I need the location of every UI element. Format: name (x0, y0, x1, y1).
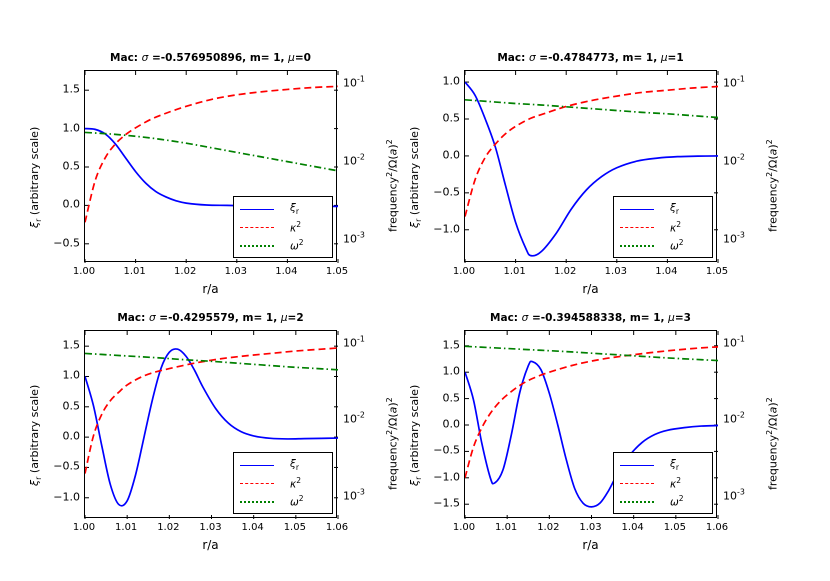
y-axis-label-right: frequency2/Ω(a)2 (765, 397, 780, 490)
x-tick-label: 1.06 (706, 522, 728, 533)
legend-label-xi_r: ξr (670, 458, 679, 472)
right-y-tick-label: 10-2 (723, 411, 745, 426)
legend-label-omega2: ω2 (670, 494, 684, 509)
legend-item-xi_r: ξr (614, 457, 712, 475)
legend-swatch-omega2 (620, 501, 654, 503)
panel-title: Mac: σ =-0.394588338, m= 1, μ=3 (465, 312, 716, 324)
y-tick-label: 1.0 (422, 365, 460, 378)
x-tick-label: 1.05 (664, 522, 686, 533)
legend-swatch-kappa2 (620, 483, 654, 484)
y-tick-label: 1.5 (422, 338, 460, 351)
figure-canvas: Mac: σ =-0.576950896, m= 1, μ=01.001.011… (0, 0, 830, 581)
legend-item-omega2: ω2 (614, 493, 712, 511)
y-tick-label: −0.5 (422, 444, 460, 457)
legend: ξrκ2ω2 (613, 452, 713, 514)
right-y-tick-label: 10-1 (723, 334, 745, 349)
x-tick-label: 1.03 (579, 522, 601, 533)
legend-item-kappa2: κ2 (614, 475, 712, 493)
x-tick-label: 1.01 (495, 522, 517, 533)
right-y-tick-label: 10-3 (723, 488, 745, 503)
y-tick-label: −1.0 (422, 470, 460, 483)
plot-panel-4: Mac: σ =-0.394588338, m= 1, μ=31.001.011… (0, 0, 830, 581)
title-text: Mac: σ =-0.394588338, m= 1, μ=3 (490, 312, 691, 324)
x-tick-label: 1.04 (622, 522, 644, 533)
legend-swatch-xi_r (620, 465, 654, 466)
x-tick-label: 1.02 (537, 522, 559, 533)
x-axis-label: r/a (464, 538, 717, 552)
series-line-omega2 (465, 346, 718, 360)
y-axis-label-left: ξr (arbitrary scale) (408, 385, 423, 486)
y-tick-label: 0.5 (422, 391, 460, 404)
legend-label-kappa2: κ2 (670, 476, 681, 491)
y-tick-label: −1.5 (422, 497, 460, 510)
x-tick-label: 1.00 (453, 522, 475, 533)
y-tick-label: 0.0 (422, 418, 460, 431)
